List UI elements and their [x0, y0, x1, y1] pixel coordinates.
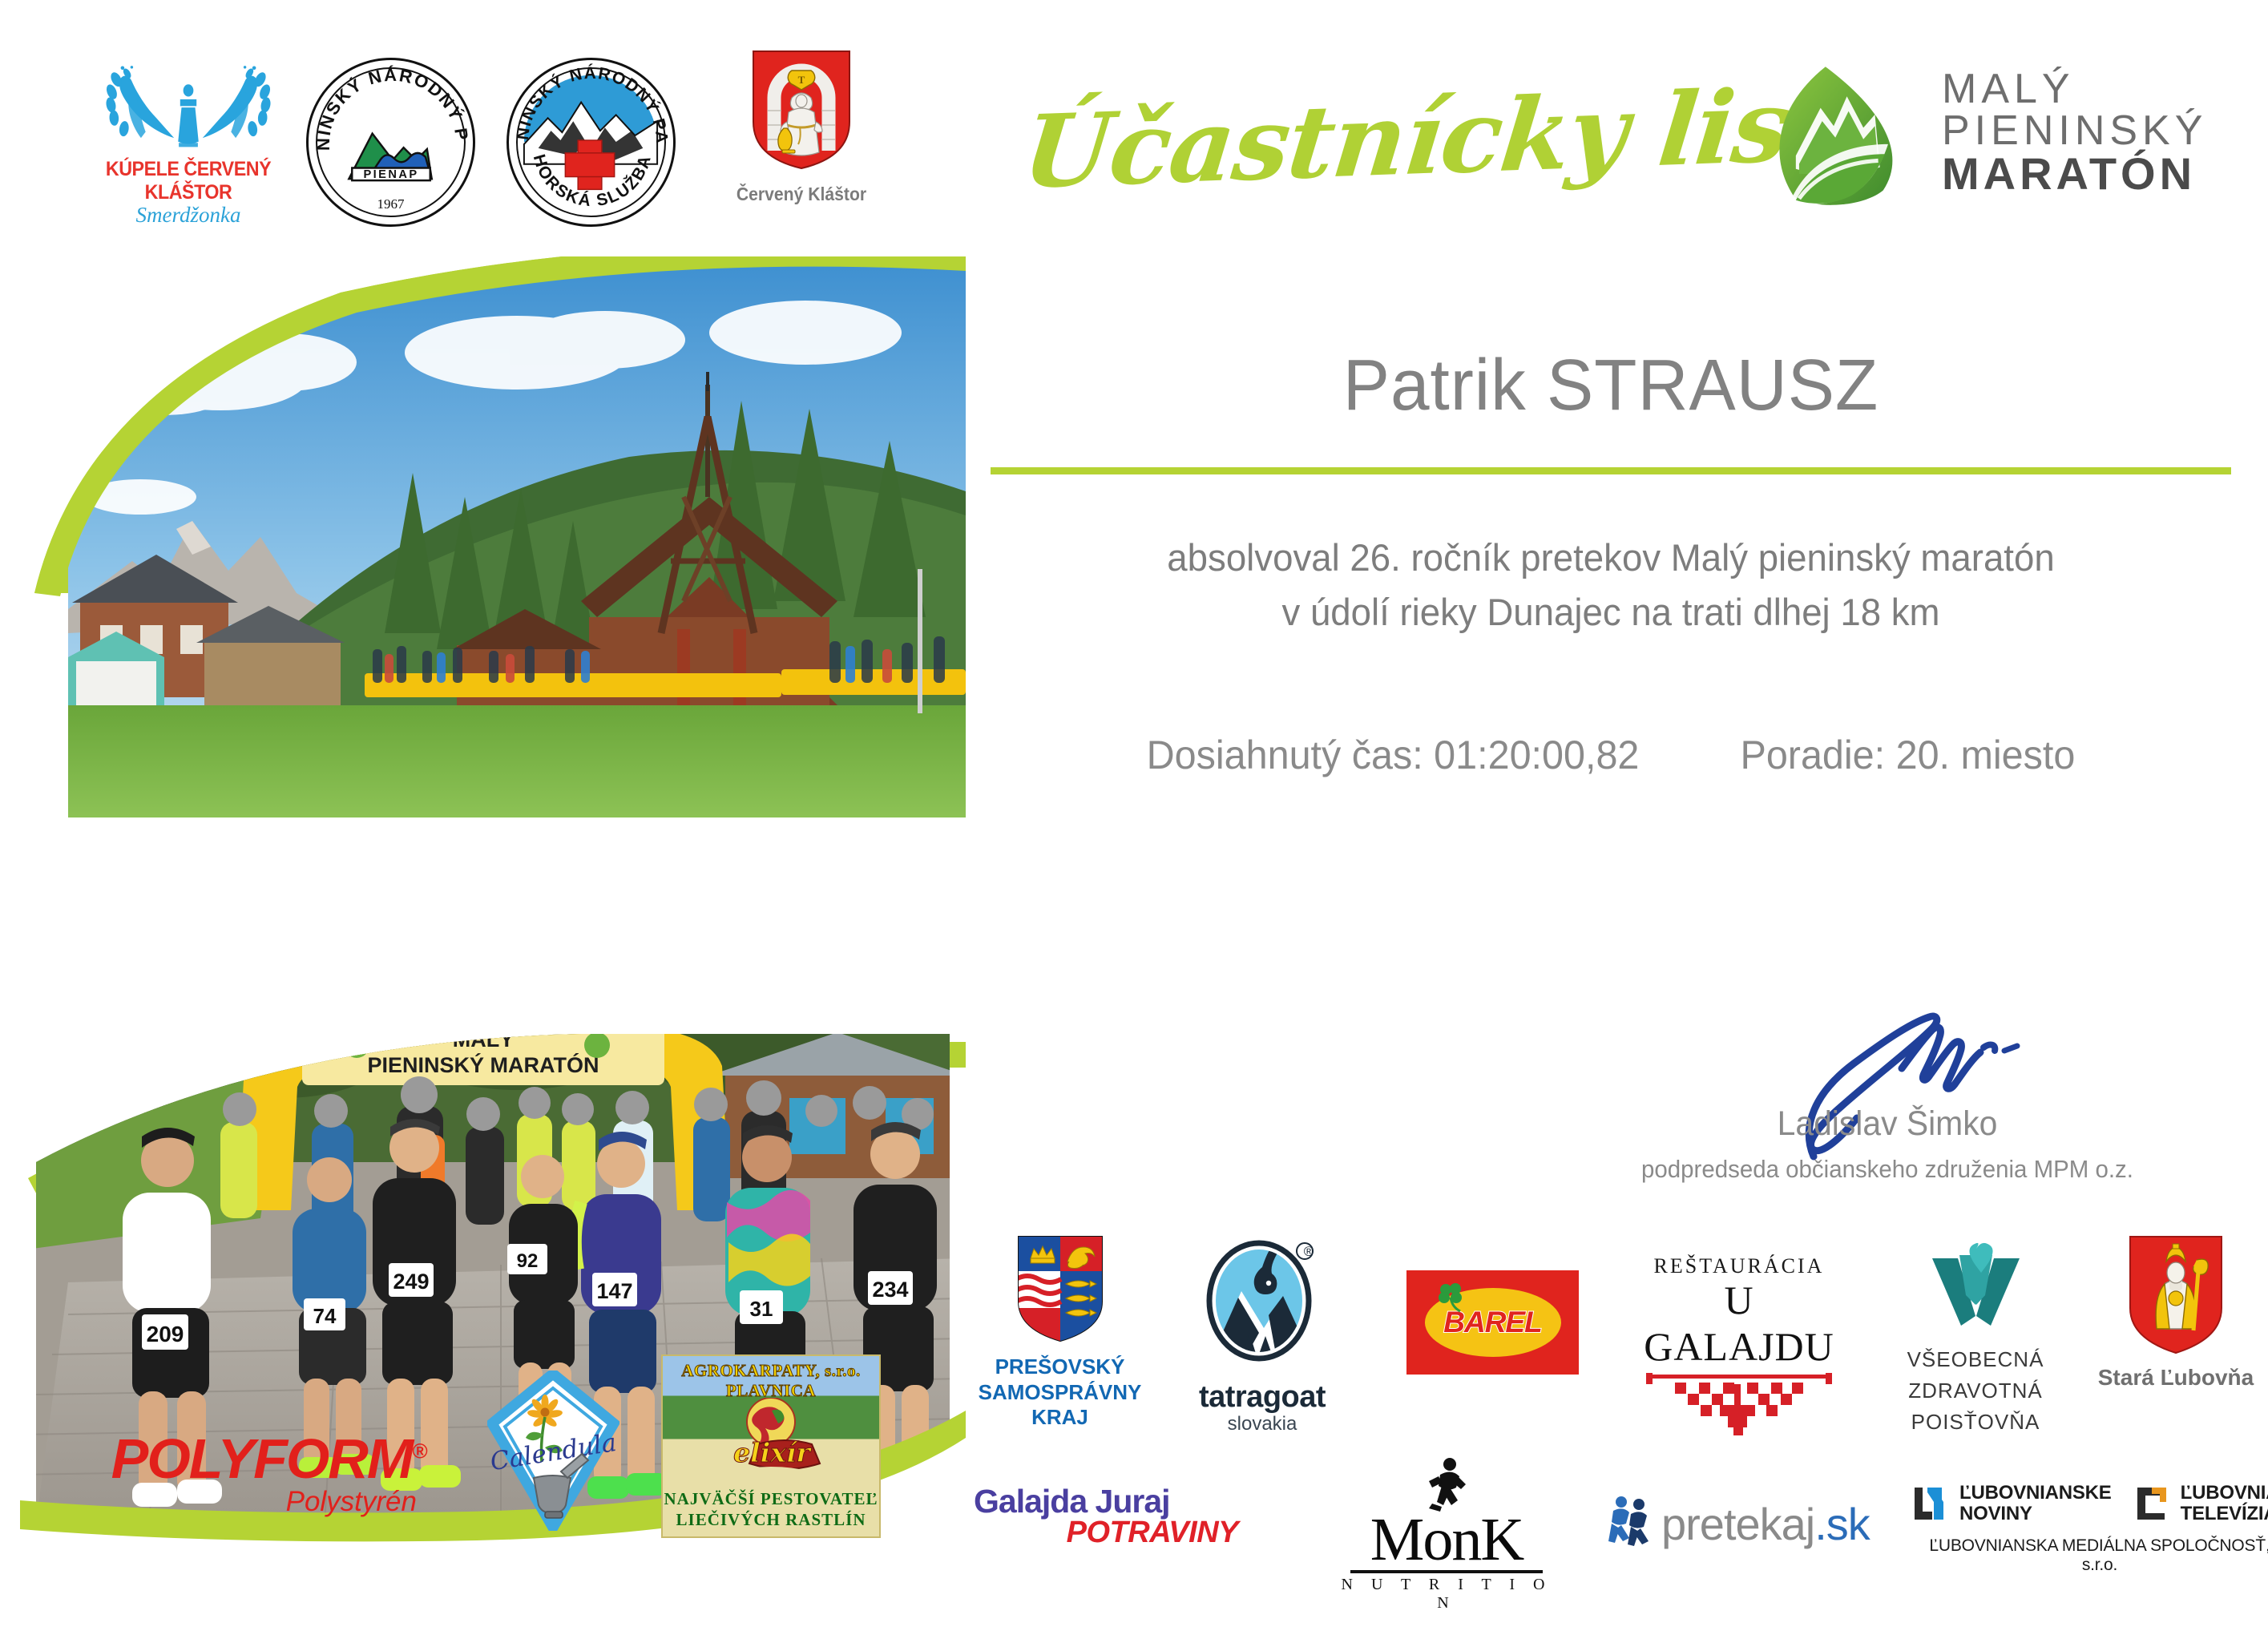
pretekaj-tld: .sk — [1814, 1499, 1870, 1549]
sponsor-monk-nutrition: MonK N U T R I T I O N — [1326, 1457, 1567, 1613]
pretekaj-name: pretekaj — [1661, 1499, 1814, 1549]
pienap-year: 1967 — [309, 196, 473, 212]
polyform-reg-mark: ® — [412, 1439, 426, 1463]
agrokarpaty-title: AGROKARPATY, s.r.o. PLAVNICA — [663, 1361, 879, 1401]
logo-horska-sluzba: PIENINSKÝ NÁRODNÝ PARK HORSKÁ SLUŽBA — [501, 58, 681, 227]
monk-figure-icon — [175, 80, 202, 154]
svg-text:T: T — [798, 74, 805, 86]
sponsor-calendula: Calendula — [465, 1371, 641, 1531]
sponsor-row-bottom-left: POLYFORM® Polystyrén — [96, 1346, 970, 1563]
event-logo: MALÝ PIENINSKÝ MARATÓN — [1771, 56, 2220, 208]
photo-amphitheatre — [52, 256, 966, 826]
participant-name: Patrik STRAUSZ — [1004, 345, 2217, 427]
header-logo-strip: KÚPELE ČERVENÝ KLÁŠTOR Smerdžonka PIENIN… — [80, 48, 962, 256]
lt-line2: TELEVÍZIA — [2181, 1504, 2268, 1524]
kupele-subtitle: Smerdžonka — [88, 203, 289, 228]
pienap-mountain-icon: PIENAP — [344, 121, 438, 184]
sponsor-agrokarpaty: AGROKARPATY, s.r.o. PLAVNICA elixír NAJV… — [661, 1354, 881, 1538]
sponsor-polyform: POLYFORM® Polystyrén — [104, 1427, 433, 1518]
stara-lubovna-coat-of-arms-icon — [2128, 1234, 2224, 1354]
finish-rank: Poradie: 20. miesto — [1740, 732, 2075, 778]
psk-line1: PREŠOVSKÝ — [974, 1354, 1146, 1380]
sponsor-vseobecna-zdravotna-poistovna: VŠEOBECNÁ ZDRAVOTNÁ POISŤOVŇA — [1891, 1242, 2060, 1438]
sponsor-pretekaj-sk: pretekaj.sk — [1607, 1495, 1887, 1552]
polyform-subtitle: Polystyrén — [104, 1486, 433, 1518]
folk-ornament-icon — [1643, 1373, 1835, 1435]
coat-of-arms-caption: Červený Kláštor — [720, 184, 882, 205]
lms-footer: ĽUBOVNIANSKA MEDIÁLNA SPOLOČNOSŤ, s.r.o. — [1911, 1536, 2268, 1575]
lt-line1: ĽUBOVNIANSKA — [2181, 1483, 2268, 1504]
sponsor-barel: BAREL — [1406, 1270, 1579, 1375]
ln-logo-icon — [1911, 1483, 1953, 1524]
svg-text:MALÝ: MALÝ — [453, 1027, 515, 1052]
svg-text:PIENINSKÝ NÁRODNÝ PARK: PIENINSKÝ NÁRODNÝ PARK — [509, 60, 671, 145]
water-wings-icon — [96, 56, 280, 156]
svg-text:74: 74 — [313, 1304, 337, 1328]
signature-block: Ladislav Šimko podpredseda občianskeho z… — [1571, 1006, 2204, 1184]
accent-divider — [991, 467, 2231, 474]
leaf-mountain-icon — [1771, 59, 1919, 207]
svg-text:HORSKÁ SLUŽBA: HORSKÁ SLUŽBA — [530, 152, 656, 210]
galajda-name: Galajda Juraj — [974, 1483, 1238, 1520]
svg-text:234: 234 — [872, 1278, 908, 1302]
monk-name: MonK — [1326, 1511, 1567, 1568]
vzp-line1: VŠEOBECNÁ — [1891, 1344, 2060, 1375]
logo-pieninsky-narodny-park: PIENINSKÝ NÁRODNÝ PARK PIENAP 1967 — [301, 58, 481, 227]
calendula-icon: Calendula — [487, 1371, 619, 1531]
sponsor-lubovnianska-medialna-spolocnost: ĽUBOVNIANSKE NOVINY ĽUBOVNIANSKA TELEVÍZ… — [1911, 1483, 2268, 1575]
vzp-line3: POISŤOVŇA — [1891, 1407, 2060, 1438]
vzp-line2: ZDRAVOTNÁ — [1891, 1375, 2060, 1407]
sponsor-stara-lubovna: Stará Ľubovňa — [2096, 1234, 2256, 1391]
svg-text:31: 31 — [750, 1297, 773, 1321]
agrokarpaty-line1: NAJVÄČŠÍ PESTOVATEĽ — [663, 1489, 879, 1509]
event-logo-line3: MARATÓN — [1942, 151, 2207, 196]
horska-ring-text: PIENINSKÝ NÁRODNÝ PARK HORSKÁ SLUŽBA — [509, 60, 673, 224]
u-galajdu-line2: U GALAJDU — [1631, 1277, 1847, 1370]
brand-lubovnianska-televizia: ĽUBOVNIANSKA TELEVÍZIA — [2133, 1483, 2268, 1525]
kupele-title: KÚPELE ČERVENÝ KLÁŠTOR — [95, 158, 282, 204]
ln-line1: ĽUBOVNIANSKE — [1959, 1483, 2112, 1504]
certificate-body: Patrik STRAUSZ absolvoval 26. ročník pre… — [986, 345, 2236, 778]
sponsor-galajda-juraj: Galajda Juraj POTRAVINY — [974, 1483, 1238, 1550]
sponsor-tatragoat: ® tatragoat slovakia — [1170, 1238, 1354, 1435]
svg-text:209: 209 — [147, 1322, 184, 1346]
sponsor-presovsky-samospravny-kraj: PREŠOVSKÝ SAMOSPRÁVNY KRAJ — [974, 1234, 1146, 1431]
psk-coat-of-arms-icon — [1016, 1234, 1104, 1342]
running-figure-icon — [1426, 1457, 1467, 1512]
galajda-subtitle: POTRAVINY — [974, 1516, 1238, 1550]
event-logo-line1: MALÝ — [1942, 68, 2207, 110]
tatragoat-name: tatragoat — [1170, 1380, 1354, 1415]
description-line-1: absolvoval 26. ročník pretekov Malý pien… — [1004, 531, 2217, 585]
u-galajdu-line1: REŠTAURÁCIA — [1631, 1254, 1847, 1278]
svg-text:92: 92 — [517, 1250, 539, 1272]
vzp-chevron-icon — [1926, 1242, 2026, 1329]
sponsor-row-1: PREŠOVSKÝ SAMOSPRÁVNY KRAJ — [974, 1234, 2256, 1411]
signatory-name: Ladislav Šimko — [1587, 1104, 2189, 1144]
tatragoat-icon: ® — [1206, 1238, 1318, 1379]
ln-line2: NOVINY — [1959, 1504, 2112, 1524]
svg-text:PIENAP: PIENAP — [363, 168, 418, 181]
page-title: Účastnícky list — [1018, 67, 1838, 212]
psk-line3: KRAJ — [974, 1405, 1146, 1431]
psk-line2: SAMOSPRÁVNY — [974, 1380, 1146, 1406]
finish-time: Dosiahnutý čas: 01:20:00,82 — [1147, 732, 1640, 778]
svg-text:elixír: elixír — [733, 1437, 812, 1468]
svg-text:147: 147 — [596, 1279, 632, 1303]
logo-cerveny-klastor-coat-of-arms: T Červený Kláštor — [713, 48, 890, 205]
event-logo-line2: PIENINSKÝ — [1942, 110, 2207, 151]
runners-icon — [1607, 1495, 1657, 1552]
signatory-role: podpredseda občianskeho združenia MPM o.… — [1587, 1155, 2189, 1184]
sponsor-u-galajdu: REŠTAURÁCIA U GALAJDU — [1631, 1254, 1847, 1439]
svg-text:PIENINSKÝ MARATÓN: PIENINSKÝ MARATÓN — [367, 1052, 599, 1077]
lt-logo-icon — [2133, 1483, 2174, 1524]
sponsor-row-2: Galajda Juraj POTRAVINY MonK N U T R I T… — [974, 1475, 2256, 1595]
agrokarpaty-line2: LIEČIVÝCH RASTLÍN — [663, 1510, 879, 1530]
stara-lubovna-name: Stará Ľubovňa — [2096, 1365, 2256, 1391]
svg-text:249: 249 — [393, 1270, 429, 1294]
monk-subtitle: N U T R I T I O N — [1326, 1576, 1567, 1613]
brand-lubovnianske-noviny: ĽUBOVNIANSKE NOVINY — [1911, 1483, 2112, 1525]
clover-icon — [1436, 1282, 1465, 1314]
elixir-badge-icon: elixír — [703, 1398, 839, 1482]
description-line-2: v údolí rieky Dunajec na trati dlhej 18 … — [1004, 585, 2217, 640]
logo-kupele-cerveny-klastor: KÚPELE ČERVENÝ KLÁŠTOR Smerdžonka — [88, 56, 289, 228]
tatragoat-country: slovakia — [1170, 1413, 1354, 1435]
coat-of-arms-icon: T — [750, 48, 853, 170]
certificate-page: KÚPELE ČERVENÝ KLÁŠTOR Smerdžonka PIENIN… — [0, 0, 2268, 1603]
polyform-name: POLYFORM — [111, 1427, 412, 1490]
